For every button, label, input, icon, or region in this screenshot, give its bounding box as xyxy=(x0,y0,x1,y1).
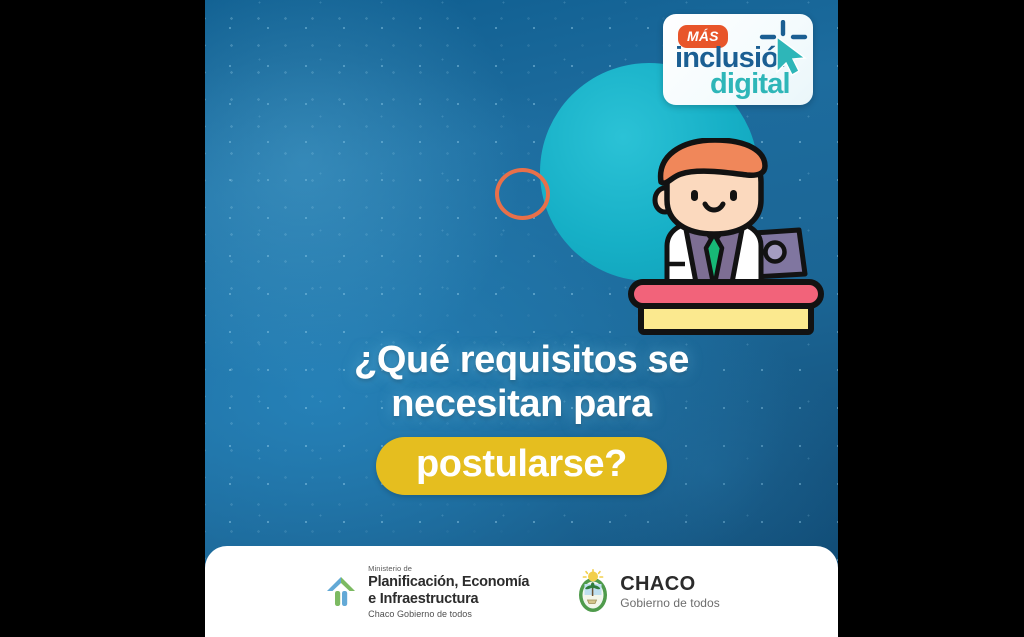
ministry-title: Planificación, Economía e Infraestructur… xyxy=(368,574,529,607)
province-subtitle: Gobierno de todos xyxy=(620,597,720,609)
ministry-logo: Ministerio de Planificación, Economía e … xyxy=(323,565,529,619)
ministry-title-line-1: Planificación, Economía xyxy=(368,574,529,591)
mas-inclusion-digital-logo: MÁS inclusión digital xyxy=(663,14,813,105)
ministry-title-line-2: e Infraestructura xyxy=(368,591,529,608)
headline-line-1: ¿Qué requisitos se xyxy=(243,338,800,382)
person-at-laptop-illustration xyxy=(623,138,828,338)
headline-highlight-wrapper: postularse? xyxy=(205,437,838,495)
headline-line-2: necesitan para xyxy=(243,382,800,426)
headline-highlight-pill: postularse? xyxy=(376,437,667,495)
ministry-eyebrow: Ministerio de xyxy=(368,565,529,573)
click-cursor-icon xyxy=(757,20,809,78)
province-logo: CHACO Gobierno de todos xyxy=(575,569,720,615)
ministry-text-block: Ministerio de Planificación, Economía e … xyxy=(368,565,529,619)
chaco-coat-of-arms-icon xyxy=(575,569,611,615)
province-text-block: CHACO Gobierno de todos xyxy=(620,574,720,609)
province-title: CHACO xyxy=(620,574,720,595)
ministry-subtitle: Chaco Gobierno de todos xyxy=(368,610,529,619)
post-headline: ¿Qué requisitos se necesitan para xyxy=(205,338,838,426)
screenshot-canvas: MÁS inclusión digital xyxy=(0,0,1024,637)
house-arrow-icon xyxy=(323,572,359,612)
orange-ring-shape xyxy=(495,168,550,220)
social-post-card: MÁS inclusión digital xyxy=(205,0,838,637)
footer-bar: Ministerio de Planificación, Economía e … xyxy=(205,546,838,637)
